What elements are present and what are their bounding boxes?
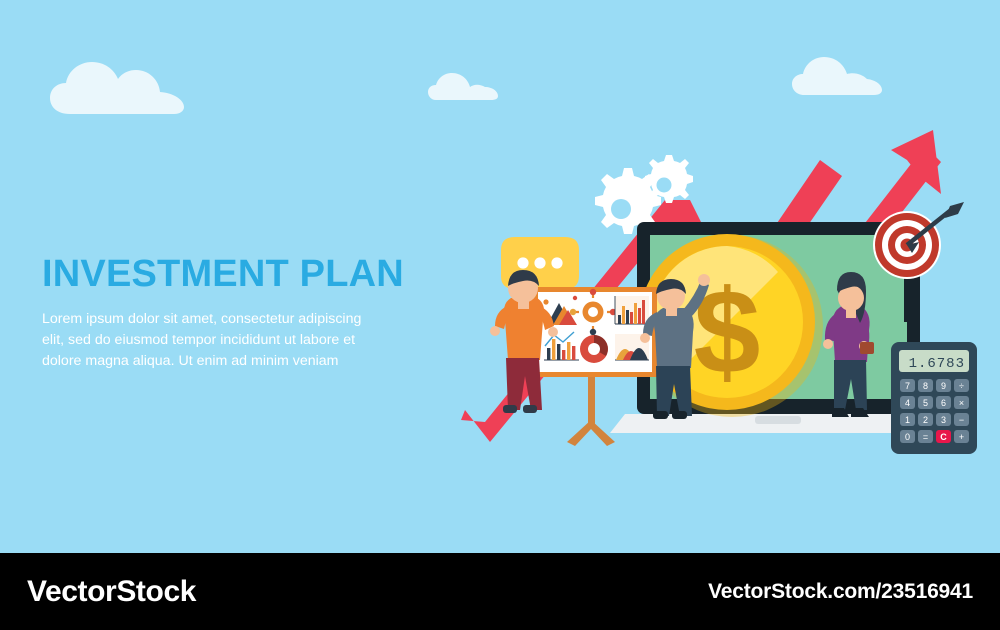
mini-bar-chart-top <box>615 296 649 324</box>
calculator-key-0: 0 <box>905 432 910 442</box>
page-title: INVESTMENT PLAN <box>42 255 442 295</box>
watermark-url: VectorStock.com/23516941 <box>708 580 973 604</box>
gear-small-icon <box>645 155 693 203</box>
calculator-key-6: 6 <box>941 398 946 408</box>
cloud-small-center <box>428 70 500 102</box>
calculator-key-7: 7 <box>905 381 910 391</box>
calculator: 1.6783 7 8 9 ÷ 4 5 6 <box>891 342 977 454</box>
cloud-large-left <box>48 58 188 116</box>
calculator-key-4: 4 <box>905 398 910 408</box>
calculator-key-equals: = <box>923 432 928 442</box>
calculator-key-9: 9 <box>941 381 946 391</box>
copy-block: INVESTMENT PLAN Lorem ipsum dolor sit am… <box>42 255 442 372</box>
cloud-medium-right <box>792 55 884 97</box>
illustration: $ <box>455 120 1000 460</box>
watermark-brand: VectorStock <box>27 575 196 609</box>
calculator-display-value: 1.6783 <box>909 356 965 372</box>
page-subtitle: Lorem ipsum dolor sit amet, consectetur … <box>42 309 377 372</box>
calculator-key-8: 8 <box>923 381 928 391</box>
mini-donut-chart <box>580 335 608 363</box>
sky-background: INVESTMENT PLAN Lorem ipsum dolor sit am… <box>0 0 1000 553</box>
calculator-key-2: 2 <box>923 415 928 425</box>
calculator-key-clear: C <box>940 432 947 442</box>
calculator-key-5: 5 <box>923 398 928 408</box>
calculator-key-divide: ÷ <box>959 381 964 391</box>
calculator-key-plus: + <box>959 432 964 442</box>
calculator-key-minus: − <box>959 415 964 425</box>
calculator-key-multiply: × <box>959 398 964 408</box>
banner-canvas: INVESTMENT PLAN Lorem ipsum dolor sit am… <box>0 0 1000 630</box>
calculator-key-1: 1 <box>905 415 910 425</box>
calculator-key-3: 3 <box>941 415 946 425</box>
watermark-bar: VectorStock VectorStock.com/23516941 <box>0 553 1000 630</box>
